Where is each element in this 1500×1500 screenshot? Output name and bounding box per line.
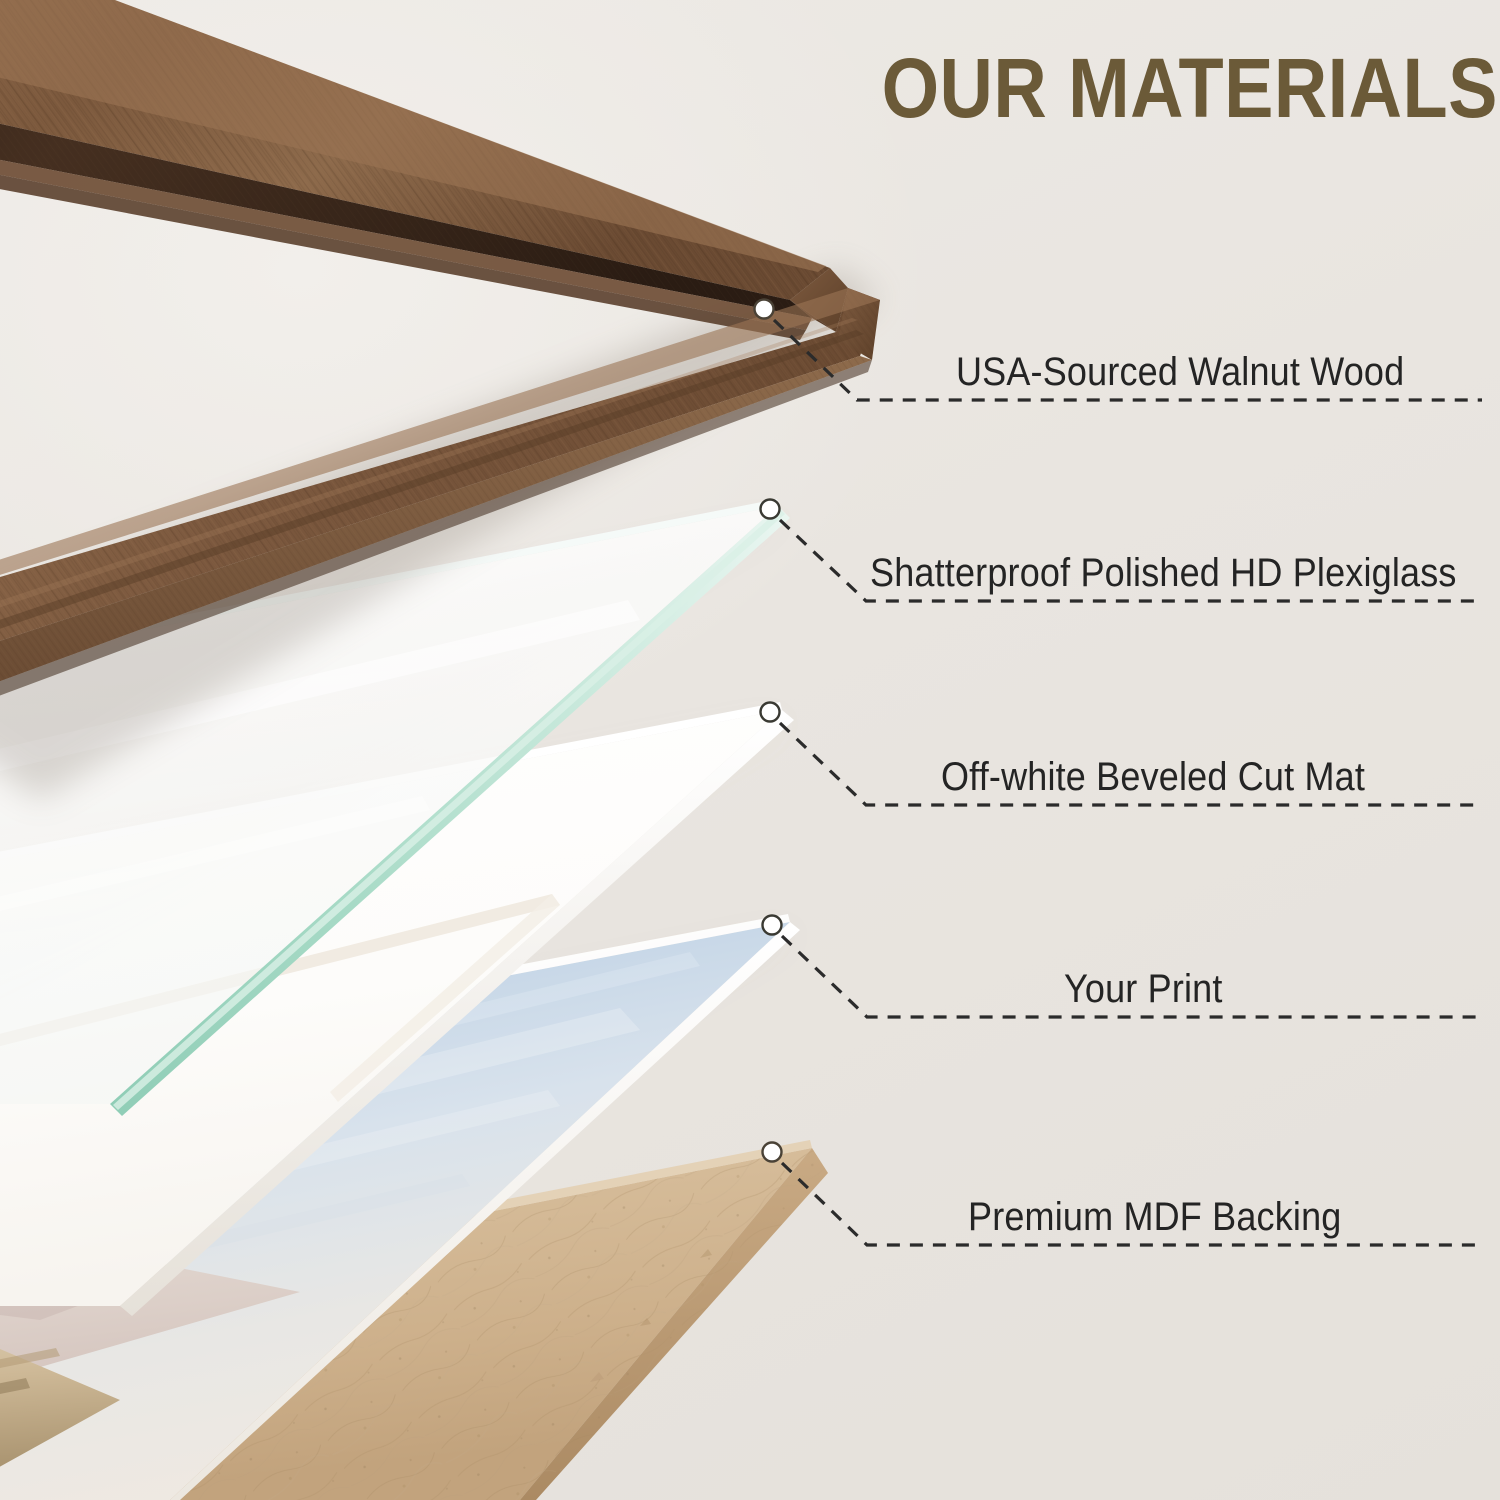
page-title: OUR MATERIALS <box>882 46 1480 130</box>
callout-label-mdf-backing: Premium MDF Backing <box>968 1197 1342 1237</box>
exploded-frame-illustration <box>0 0 900 1500</box>
infographic-canvas: OUR MATERIALS USA-Sourced Walnut Wood Sh… <box>0 0 1500 1500</box>
callout-label-your-print: Your Print <box>1064 969 1223 1009</box>
callout-label-plexiglass: Shatterproof Polished HD Plexiglass <box>870 553 1457 593</box>
callout-label-walnut-wood: USA-Sourced Walnut Wood <box>956 352 1404 392</box>
callout-label-cut-mat: Off-white Beveled Cut Mat <box>941 757 1365 797</box>
